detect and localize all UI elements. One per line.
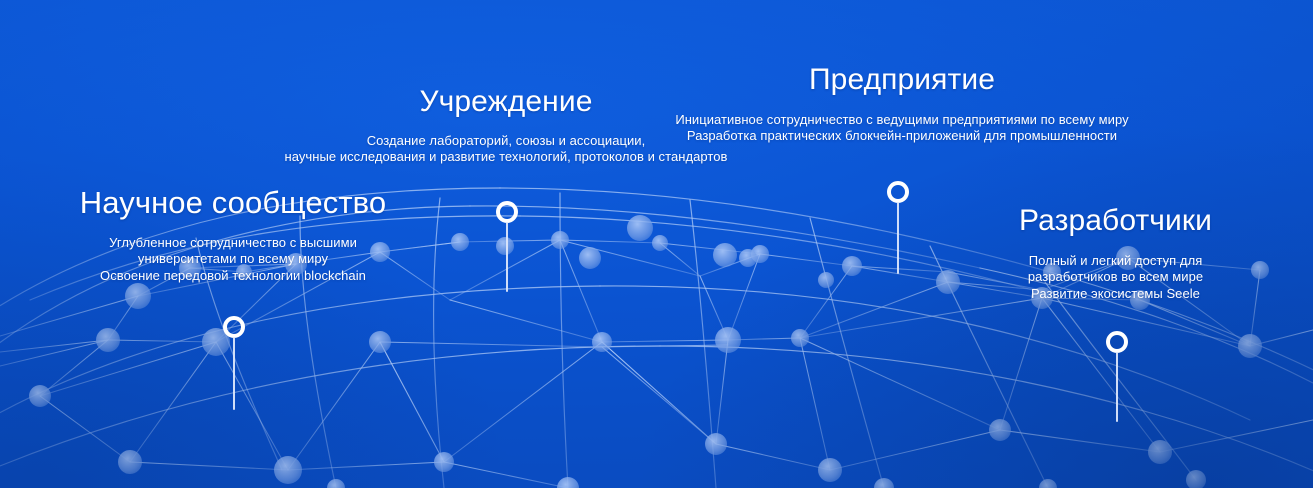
- callout-description-developers: Полный и легкий доступ для разработчиков…: [1008, 253, 1223, 303]
- banner-stage: Научное сообщество Углубленное сотруднич…: [0, 0, 1313, 488]
- callout-developers: Разработчики Полный и легкий доступ для …: [1008, 204, 1223, 302]
- callout-line: научные исследования и развитие технолог…: [242, 149, 770, 166]
- callout-description-science-community: Углубленное сотрудничество с высшими уни…: [0, 235, 466, 285]
- pin-ring-icon: [1106, 331, 1128, 353]
- callout-line: Разработка практических блокчейн-приложе…: [637, 128, 1167, 145]
- callout-line: Углубленное сотрудничество с высшими: [0, 235, 466, 252]
- callout-enterprise: Предприятие Инициативное сотрудничество …: [637, 63, 1167, 145]
- pin-stem: [233, 337, 235, 410]
- callout-line: университетами по всему миру: [0, 251, 466, 268]
- callout-line: Развитие экосистемы Seele: [1008, 286, 1223, 303]
- callout-line: разработчиков во всем мире: [1008, 269, 1223, 286]
- callout-title-developers: Разработчики: [1008, 204, 1223, 238]
- callout-line: Инициативное сотрудничество с ведущими п…: [637, 112, 1167, 129]
- pin-stem: [1116, 352, 1118, 422]
- callout-description-enterprise: Инициативное сотрудничество с ведущими п…: [637, 112, 1167, 145]
- pin-stem: [897, 202, 899, 274]
- pin-ring-icon: [496, 201, 518, 223]
- pin-stem: [506, 222, 508, 292]
- callout-line: Освоение передовой технологии blockchain: [0, 268, 466, 285]
- pin-ring-icon: [223, 316, 245, 338]
- pin-ring-icon: [887, 181, 909, 203]
- callout-science-community: Научное сообщество Углубленное сотруднич…: [0, 186, 466, 284]
- callout-title-science-community: Научное сообщество: [0, 186, 466, 221]
- callout-title-enterprise: Предприятие: [637, 63, 1167, 97]
- callout-line: Полный и легкий доступ для: [1008, 253, 1223, 270]
